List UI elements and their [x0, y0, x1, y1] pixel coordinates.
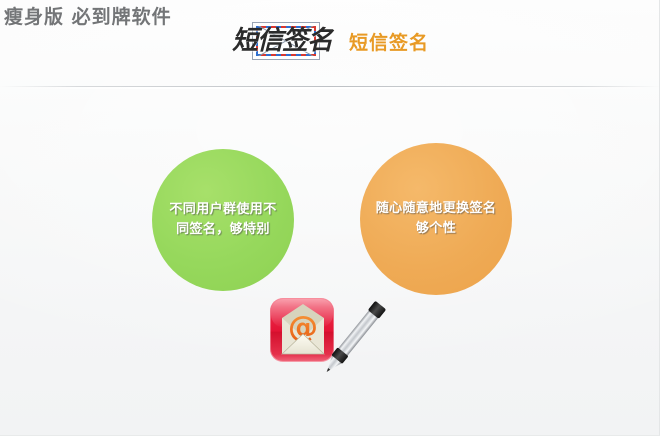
page-title: 短信签名	[349, 28, 429, 55]
header-divider	[0, 86, 660, 89]
feature-bubble-change-anytime: 随心随意地更换签名够个性	[360, 143, 512, 295]
feature-bubble-label: 不同用户群使用不同签名，够特别	[163, 200, 282, 240]
brand: 短信签名 短信签名	[232, 18, 429, 64]
watermark-text: 瘦身版 必到牌软件	[4, 2, 172, 29]
slide-page: 瘦身版 必到牌软件 短信签名 短信签名 不同用户群使用不同签名，够特别 随心随意…	[0, 0, 660, 436]
app-icon-group: @	[268, 296, 392, 380]
feature-bubble-label: 随心随意地更换签名够个性	[372, 199, 500, 239]
logo-mark: 短信签名	[232, 18, 336, 64]
logo-script-text: 短信签名	[232, 18, 336, 64]
feature-bubble-different-groups: 不同用户群使用不同签名，够特别	[152, 149, 294, 291]
pen-icon	[312, 292, 398, 382]
